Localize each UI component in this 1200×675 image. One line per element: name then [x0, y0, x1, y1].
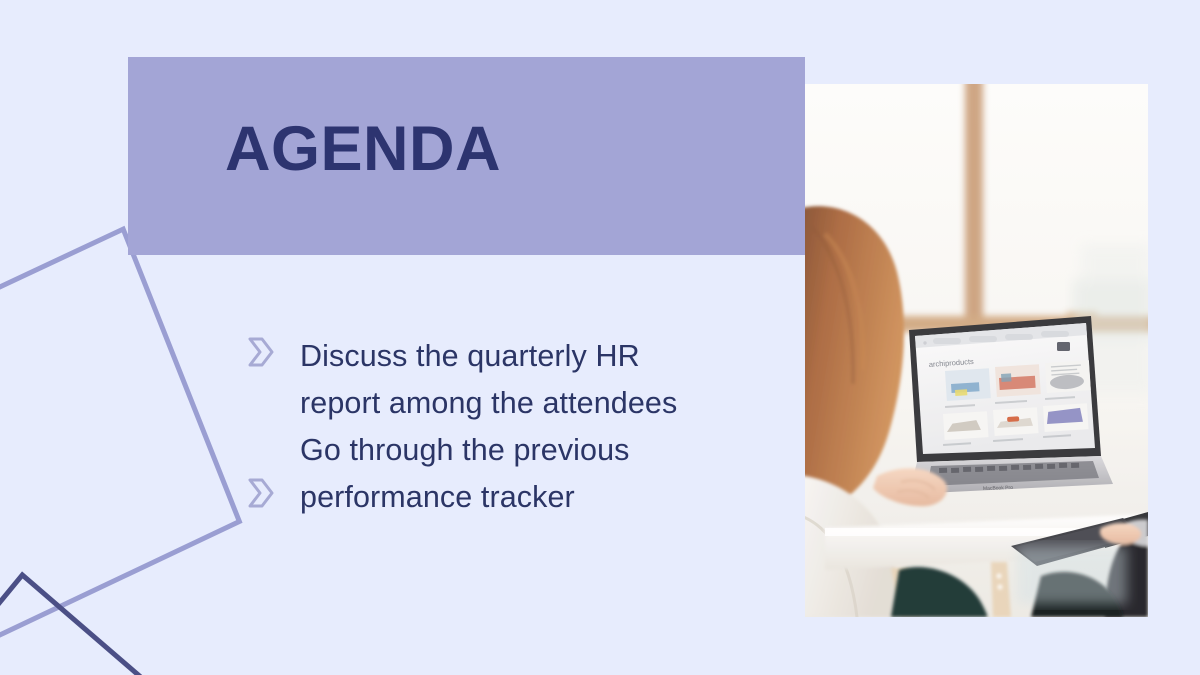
chevron-right-outline-icon [248, 478, 274, 508]
decorative-square-dark [0, 555, 295, 675]
list-item: Go through the previous [248, 427, 748, 474]
page-title: AGENDA [225, 118, 501, 181]
agenda-item-text: Go through the previous [300, 427, 630, 474]
agenda-slide: AGENDA Discuss the quarterly HR report a… [0, 0, 1200, 675]
decorative-square-light [0, 218, 253, 666]
list-item: report among the attendees [248, 380, 748, 427]
office-photo: archiproducts [805, 84, 1148, 617]
agenda-item-text: Discuss the quarterly HR [300, 333, 640, 380]
chevron-right-outline-icon [248, 337, 274, 367]
list-item: Discuss the quarterly HR [248, 333, 748, 380]
list-item: performance tracker [248, 474, 748, 521]
agenda-list: Discuss the quarterly HR report among th… [248, 333, 748, 521]
agenda-item-text: report among the attendees [300, 380, 677, 427]
agenda-item-text: performance tracker [300, 474, 575, 521]
